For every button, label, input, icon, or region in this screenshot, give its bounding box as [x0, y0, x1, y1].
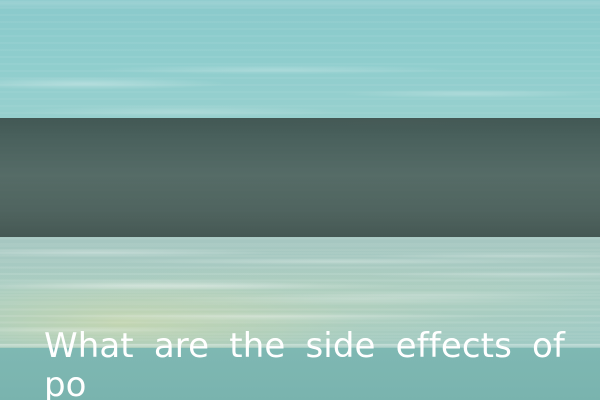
screenshot-canvas: What are the side effects of po tassium …	[0, 0, 600, 400]
caption-text-block: What are the side effects of po tassium …	[44, 249, 570, 400]
caption-line-1: What are the side effects of po	[44, 327, 565, 400]
caption-overlay-band: What are the side effects of po tassium …	[0, 118, 600, 237]
